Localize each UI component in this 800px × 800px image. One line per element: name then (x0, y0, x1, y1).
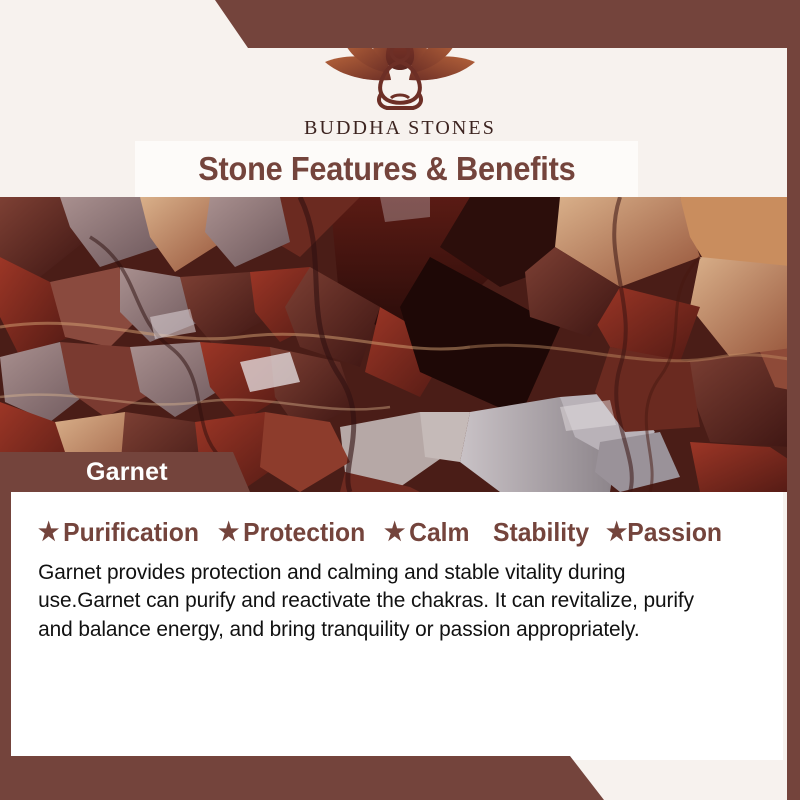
star-icon: ★ (218, 520, 239, 545)
content-card: ★ Purification ★ Protection ★ Calm Stabi… (11, 492, 783, 760)
feature-label: Calm (410, 517, 470, 548)
stone-description: Garnet provides protection and calming a… (11, 548, 760, 643)
title-banner: Stone Features & Benefits (135, 141, 638, 197)
feature-list: ★ Purification ★ Protection ★ Calm Stabi… (11, 492, 783, 548)
feature-label: Passion (627, 517, 722, 548)
page-title: Stone Features & Benefits (198, 150, 575, 188)
stone-photo: Garnet (0, 197, 800, 492)
brand-name: BUDDHA STONES (304, 117, 496, 140)
frame-right-band (787, 0, 800, 800)
feature-item-purification: ★ Purification (38, 517, 199, 548)
feature-item-protection: ★ Protection (218, 517, 365, 548)
feature-label: Protection (244, 517, 366, 548)
star-icon: ★ (606, 520, 627, 545)
feature-label: Purification (63, 517, 199, 548)
frame-bottom-band (0, 756, 800, 800)
feature-item-stability: Stability (493, 517, 589, 548)
frame-left-band (0, 488, 11, 800)
infographic-page: BUDDHA STONES Stone Features & Benefits (0, 0, 800, 800)
stone-name-badge: Garnet (0, 452, 250, 492)
feature-item-passion: ★ Passion (606, 517, 722, 548)
garnet-crystal-cluster-photo (0, 197, 800, 492)
feature-label: Stability (493, 517, 589, 548)
feature-item-calm: ★ Calm (384, 517, 470, 548)
stone-name: Garnet (86, 458, 168, 487)
star-icon: ★ (38, 520, 59, 545)
star-icon: ★ (384, 520, 405, 545)
